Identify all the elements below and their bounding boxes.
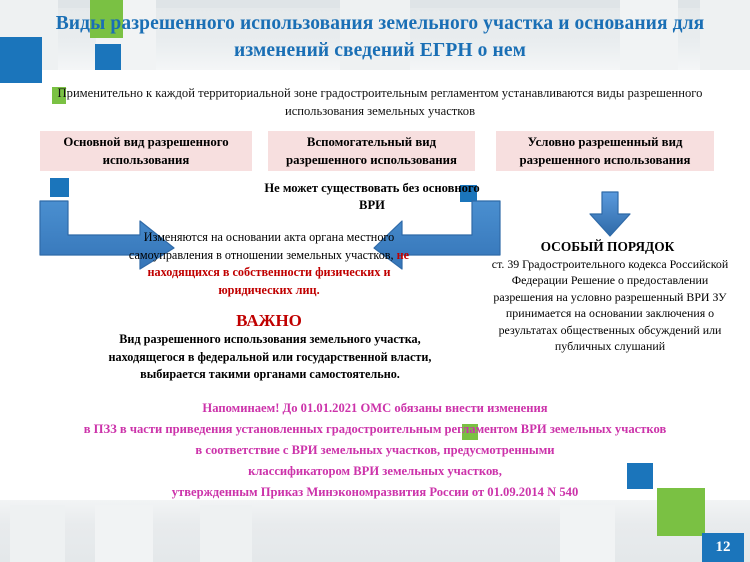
center-text-black: Изменяются на основании акта органа мест…: [129, 230, 394, 262]
accent-square-blue-left: [0, 37, 42, 83]
vazhno-body: Вид разрешенного использования земельног…: [100, 331, 440, 384]
bg-square-bl-2: [95, 505, 153, 562]
special-order-body: ст. 39 Градостроительного кодекса Россий…: [485, 256, 735, 354]
intro-paragraph: Применительно к каждой территориальной з…: [55, 84, 705, 120]
page-title: Виды разрешенного использования земельно…: [45, 10, 715, 64]
bg-square-bl-1: [10, 505, 65, 562]
bg-square-br-1: [560, 505, 615, 562]
bg-square-bc-1: [200, 505, 252, 562]
reminder-line-1: Напоминаем! До 01.01.2021 ОМС обязаны вн…: [30, 398, 720, 419]
reminder-line-4: классификатором ВРИ земельных участков,: [30, 461, 720, 482]
reminder-line-2: в ПЗЗ в части приведения установленных г…: [30, 419, 720, 440]
vazhno-heading: ВАЖНО: [128, 311, 410, 331]
page-number-badge: 12: [702, 533, 744, 562]
reminder-line-3: в соответствие с ВРИ земельных участков,…: [30, 440, 720, 461]
category-box-conditional: Условно разрешенный вид разрешенного исп…: [496, 131, 714, 171]
special-order-title: ОСОБЫЙ ПОРЯДОК: [500, 238, 715, 256]
slide-canvas: Виды разрешенного использования земельно…: [0, 0, 750, 562]
category-box-auxiliary: Вспомогательный вид разрешенного использ…: [268, 131, 475, 171]
center-body-text: Изменяются на основании акта органа мест…: [128, 229, 410, 299]
arrow-down-icon: [588, 190, 632, 238]
category-box-main: Основной вид разрешенного использования: [40, 131, 252, 171]
accent-square-blue-mid-left: [50, 178, 69, 197]
reminder-block: Напоминаем! До 01.01.2021 ОМС обязаны вн…: [30, 398, 720, 503]
reminder-line-5: утвержденным Приказ Минэкономразвития Ро…: [30, 482, 720, 503]
